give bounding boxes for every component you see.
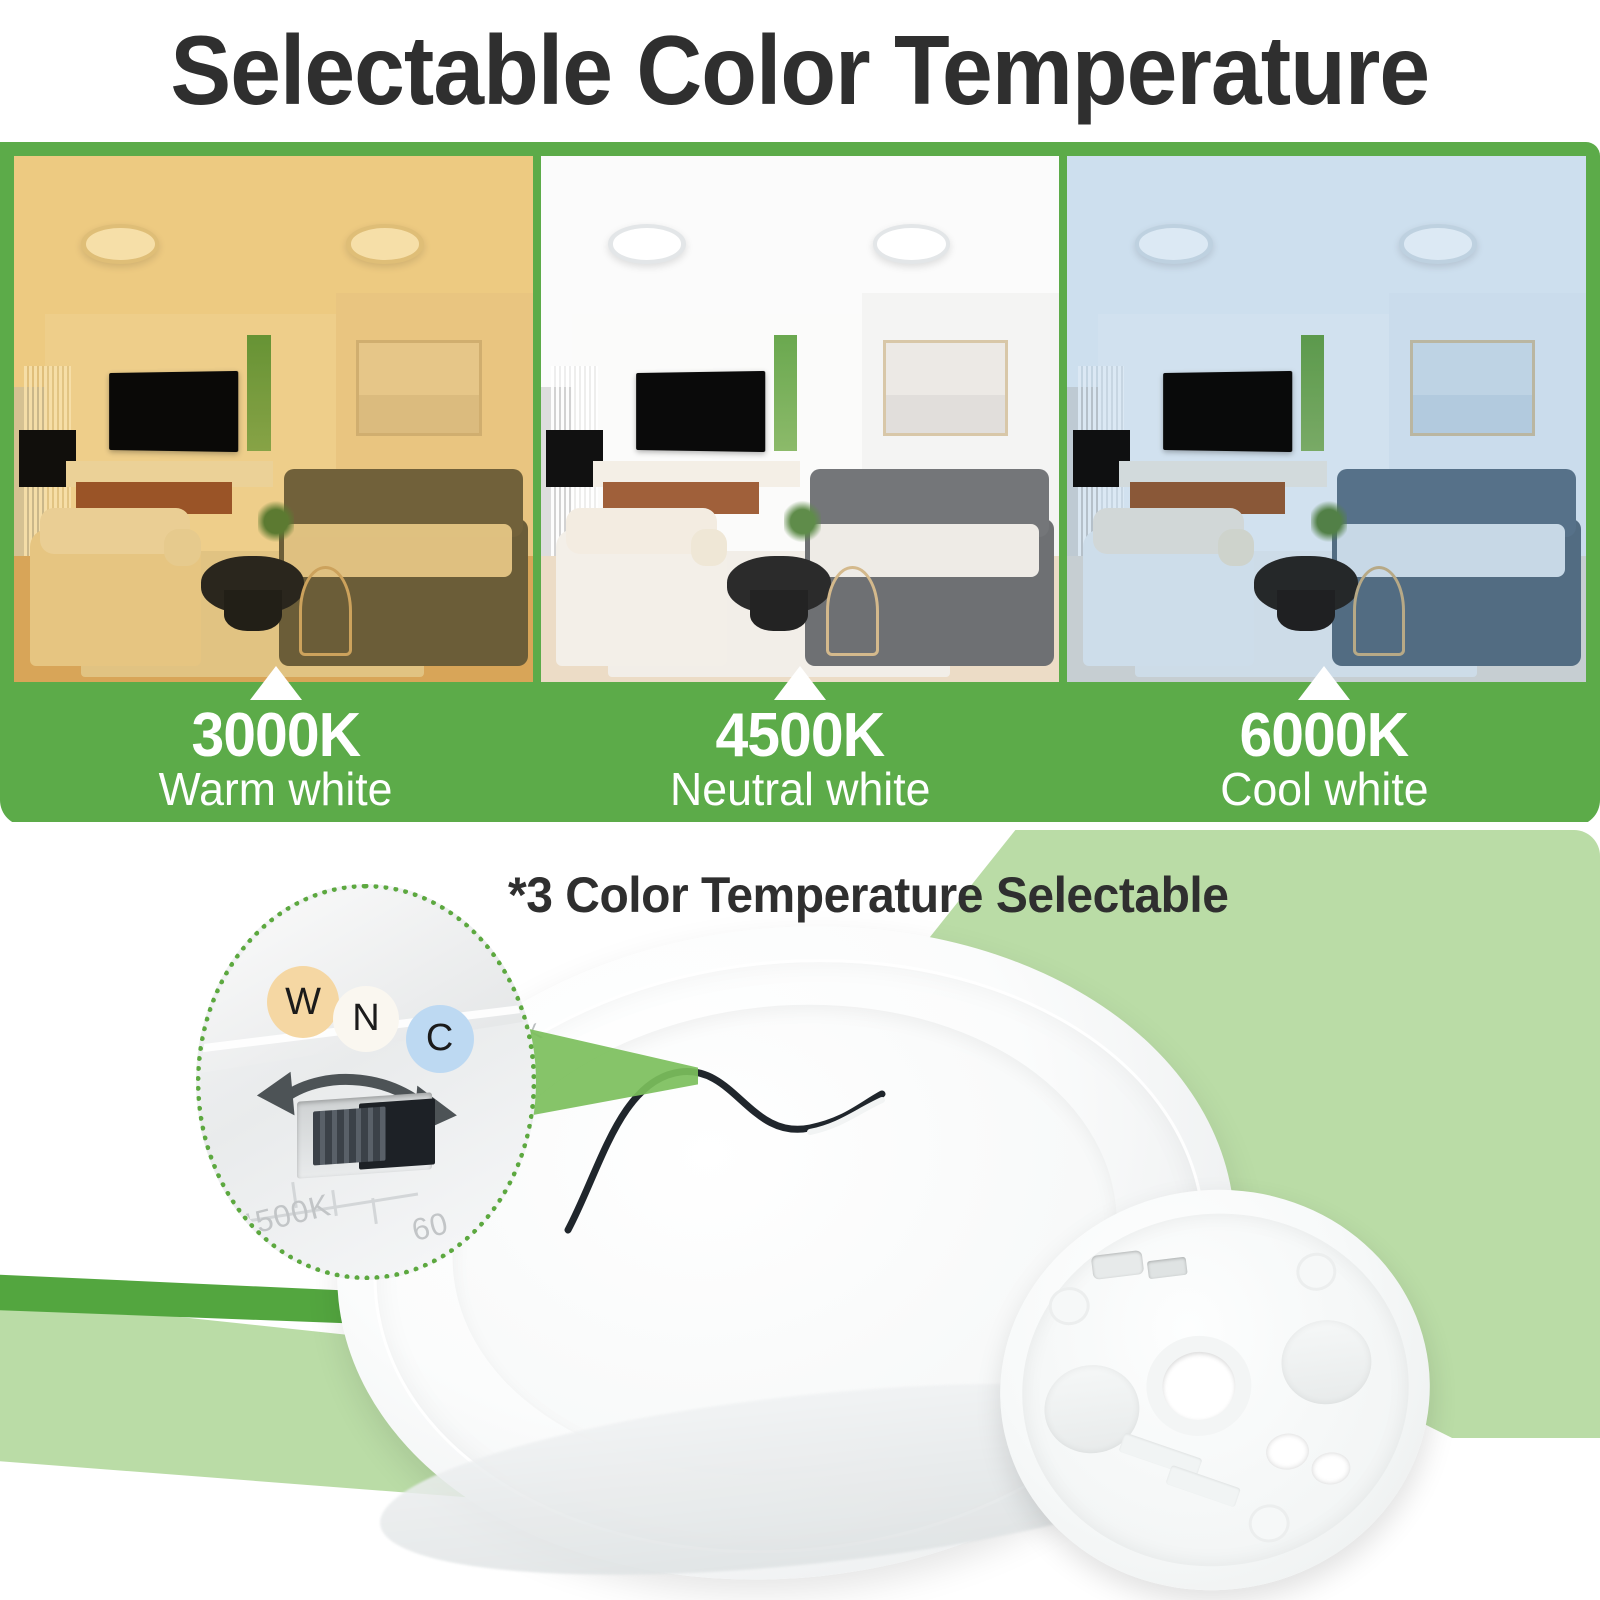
room-photo-warm xyxy=(14,156,533,682)
kelvin-value: 3000K xyxy=(192,704,361,767)
dip-switch-icon xyxy=(313,1106,386,1165)
neutral-tint-overlay xyxy=(541,156,1060,682)
badge-neutral-letter: N xyxy=(352,997,379,1040)
infographic-page: Selectable Color Temperature xyxy=(0,0,1600,1600)
kelvin-name: Cool white xyxy=(1220,765,1428,813)
room-photo-cool xyxy=(1067,156,1586,682)
kelvin-name: Warm white xyxy=(159,765,393,813)
surface-mark-6000k: 60 xyxy=(408,1205,452,1249)
room-scene xyxy=(1067,156,1586,682)
badge-warm: W xyxy=(267,966,339,1038)
detail-caption: *3 Color Temperature Selectable xyxy=(508,866,1228,924)
temperature-label-warm: 3000K Warm white xyxy=(14,682,538,824)
switch-magnifier: W N C 4500K 60 xyxy=(196,884,536,1280)
warm-tint-overlay xyxy=(14,156,533,682)
kelvin-name: Neutral white xyxy=(670,765,930,813)
cool-tint-overlay xyxy=(1067,156,1586,682)
triangle-up-icon xyxy=(250,666,302,700)
room-scene xyxy=(14,156,533,682)
badge-neutral: N xyxy=(333,986,399,1052)
badge-warm-letter: W xyxy=(285,981,321,1024)
room-photo-row xyxy=(14,156,1586,682)
surface-mark-4500k: 4500K xyxy=(234,1187,335,1245)
room-scene xyxy=(541,156,1060,682)
temperature-label-row: 3000K Warm white 4500K Neutral white 600… xyxy=(14,682,1586,824)
badge-cool-letter: C xyxy=(426,1017,453,1060)
triangle-up-icon xyxy=(1298,666,1350,700)
temperature-label-neutral: 4500K Neutral white xyxy=(538,682,1062,824)
room-photo-neutral xyxy=(541,156,1060,682)
page-title-bar: Selectable Color Temperature xyxy=(0,0,1600,140)
page-title: Selectable Color Temperature xyxy=(171,21,1430,119)
temperature-label-cool: 6000K Cool white xyxy=(1062,682,1586,824)
kelvin-value: 6000K xyxy=(1240,704,1409,767)
triangle-up-icon xyxy=(774,666,826,700)
kelvin-value: 4500K xyxy=(716,704,885,767)
